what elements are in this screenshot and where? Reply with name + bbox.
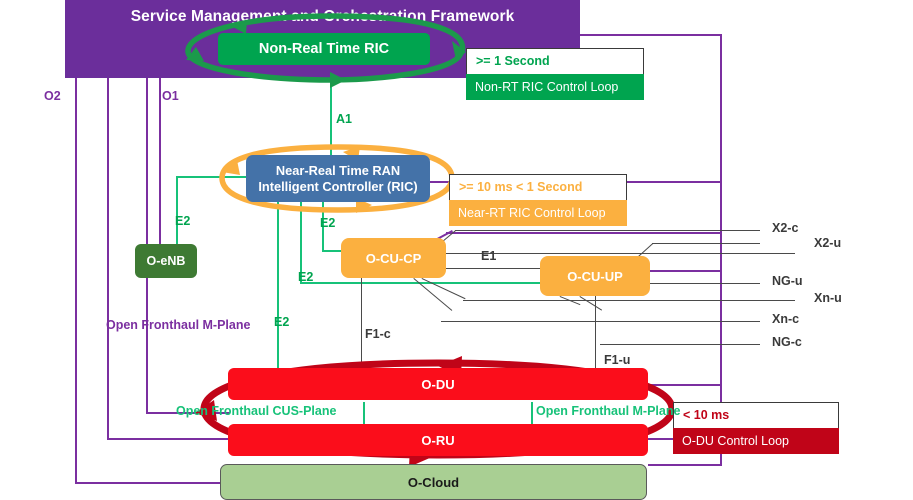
o1-branch-o-du — [648, 384, 722, 386]
label-f1-c: F1-c — [365, 327, 391, 341]
o1-branch-o-cu-up — [648, 270, 722, 272]
e2-line-oenb-horizontal — [176, 176, 254, 178]
o2-line-horizontal-bottom — [75, 482, 221, 484]
label-e2-ocucp: E2 — [320, 216, 335, 230]
o2-line-vertical-left — [75, 78, 77, 484]
label-o1: O1 — [162, 89, 179, 103]
e1-line — [446, 268, 542, 269]
ng-c-line — [600, 344, 760, 345]
legend-non-rt-label: Non-RT RIC Control Loop — [466, 74, 644, 100]
label-ng-c: NG-c — [772, 335, 802, 349]
xn-u-line — [463, 300, 795, 301]
near-rt-ric-label-line2: Intelligent Controller (RIC) — [258, 179, 417, 195]
o1-branch-o-cloud — [648, 464, 722, 466]
label-o2: O2 — [44, 89, 61, 103]
label-open-fronthaul-m-plane-right: Open Fronthaul M-Plane — [536, 404, 680, 418]
legend-o-du-label: O-DU Control Loop — [673, 428, 839, 454]
label-e1: E1 — [481, 249, 496, 263]
f1-c-line — [361, 278, 362, 374]
o1-line-vertical-a — [107, 78, 109, 440]
legend-near-rt-timing: >= 10 ms < 1 Second — [449, 174, 627, 200]
label-ng-u: NG-u — [772, 274, 803, 288]
o-cloud-box[interactable]: O-Cloud — [220, 464, 647, 500]
ng-u-line-upper — [652, 243, 760, 244]
label-open-fronthaul-cus-plane: Open Fronthaul CUS-Plane — [176, 404, 336, 418]
legend-near-rt-label: Near-RT RIC Control Loop — [449, 200, 627, 226]
o-enb-box[interactable]: O-eNB — [135, 244, 197, 278]
ng-u-line — [650, 283, 760, 284]
non-rt-ric-box[interactable]: Non-Real Time RIC — [218, 33, 430, 65]
label-e2-ocuup: E2 — [298, 270, 313, 284]
x2-c-line — [455, 230, 760, 231]
e2-line-odu-vertical — [277, 200, 279, 372]
xn-c-line — [441, 321, 760, 322]
o-ru-box[interactable]: O-RU — [228, 424, 648, 456]
ng-c-diagonal — [579, 296, 602, 311]
o-cu-cp-box[interactable]: O-CU-CP — [341, 238, 446, 278]
legend-non-rt-timing: >= 1 Second — [466, 48, 644, 74]
label-e2-oenb: E2 — [175, 214, 190, 228]
o1-branch-o-cu-cp — [446, 232, 722, 234]
o1-line-vertical-to-oenb — [159, 78, 161, 246]
o-du-box[interactable]: O-DU — [228, 368, 648, 400]
label-x2-c: X2-c — [772, 221, 798, 235]
near-rt-ric-label-line1: Near-Real Time RAN — [258, 163, 417, 179]
label-xn-u: Xn-u — [814, 291, 842, 305]
o1-right-bus-top — [580, 34, 722, 36]
o1-line-horizontal-to-oru — [107, 438, 229, 440]
o-cu-up-box[interactable]: O-CU-UP — [540, 256, 650, 296]
label-x2-u: X2-u — [814, 236, 841, 250]
smo-title: Service Management and Orchestration Fra… — [65, 6, 580, 28]
near-rt-ric-box[interactable]: Near-Real Time RAN Intelligent Controlle… — [246, 155, 430, 202]
label-open-fronthaul-m-plane-left: Open Fronthaul M-Plane — [106, 318, 250, 332]
label-a1: A1 — [336, 112, 352, 126]
legend-o-du-timing: < 10 ms — [673, 402, 839, 428]
legend-o-du-control-loop: < 10 ms O-DU Control Loop — [673, 402, 839, 454]
label-e2-odu: E2 — [274, 315, 289, 329]
legend-non-rt-ric-control-loop: >= 1 Second Non-RT RIC Control Loop — [466, 48, 644, 100]
label-f1-u: F1-u — [604, 353, 630, 367]
o1-right-bus-vertical — [720, 34, 722, 464]
oran-architecture-diagram: Service Management and Orchestration Fra… — [0, 0, 913, 500]
legend-near-rt-ric-control-loop: >= 10 ms < 1 Second Near-RT RIC Control … — [449, 174, 627, 226]
e2-line-oenb-vertical — [176, 176, 178, 246]
label-xn-c: Xn-c — [772, 312, 799, 326]
